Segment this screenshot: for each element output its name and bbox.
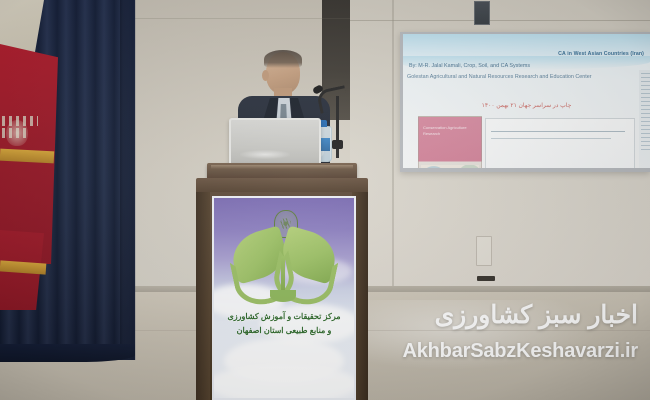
laptop-reflection xyxy=(240,150,290,159)
wall-corner xyxy=(392,0,394,292)
slide-affiliation-line: Golestan Agricultural and Natural Resour… xyxy=(407,74,592,80)
projection-screen: CA in West Asian Countries (Iran) By: M-… xyxy=(403,34,650,168)
banner-line-2: و منابع طبیعی استان اصفهان xyxy=(220,324,348,338)
wall-seam xyxy=(130,18,350,19)
podium-top-highlight xyxy=(211,165,353,169)
podium-side-panel xyxy=(196,192,210,400)
book-cover-artwork xyxy=(421,165,479,168)
flag-emblem-icon xyxy=(6,120,28,146)
watermark-website: AkhbarSabzKeshavarzi.ir xyxy=(403,340,639,363)
microphone-mount xyxy=(332,140,343,149)
speaker-hair xyxy=(264,50,302,68)
banner-line-1: مرکز تحقیقات و آموزش کشاورزی xyxy=(220,310,348,324)
speaker-ear xyxy=(262,70,269,81)
slide-author-line: By: M-R. Jalal Kamali, Crop, Soil, and C… xyxy=(409,63,530,69)
wall-seam xyxy=(350,20,650,21)
slide-header-band xyxy=(403,34,650,64)
slide-header-text: CA in West Asian Countries (Iran) xyxy=(558,51,644,57)
slide-document-rule xyxy=(491,138,611,139)
podium-banner: مرکز تحقیقات و آموزش کشاورزی و منابع طبی… xyxy=(212,196,356,400)
slide-book-cover: Conservation Agriculture Research xyxy=(418,116,482,168)
wall-vent-slot xyxy=(477,276,495,281)
slide-side-text-column xyxy=(639,70,650,168)
book-cover-title: Conservation Agriculture Research xyxy=(423,125,477,137)
wall-fixture xyxy=(474,1,490,25)
curtain-edge xyxy=(120,0,136,360)
iranian-flag xyxy=(0,0,60,300)
watermark-persian: اخبار سبز کشاورزی xyxy=(435,300,638,330)
slide-document-rule xyxy=(491,131,625,132)
photo-scene: CA in West Asian Countries (Iran) By: M-… xyxy=(0,0,650,400)
slide-persian-line: چاپ در سراسر جهان ۲۱ بهمن ۱۴۰۰ xyxy=(403,102,650,109)
emblem-base xyxy=(270,290,296,302)
slide-document-panel xyxy=(485,118,635,168)
curtain-hem xyxy=(0,344,135,362)
wall-outlet-plate xyxy=(476,236,492,266)
wheat-leaf-emblem-icon xyxy=(228,228,340,302)
banner-cloud xyxy=(212,364,356,400)
banner-text-block: مرکز تحقیقات و آموزش کشاورزی و منابع طبی… xyxy=(220,310,348,338)
